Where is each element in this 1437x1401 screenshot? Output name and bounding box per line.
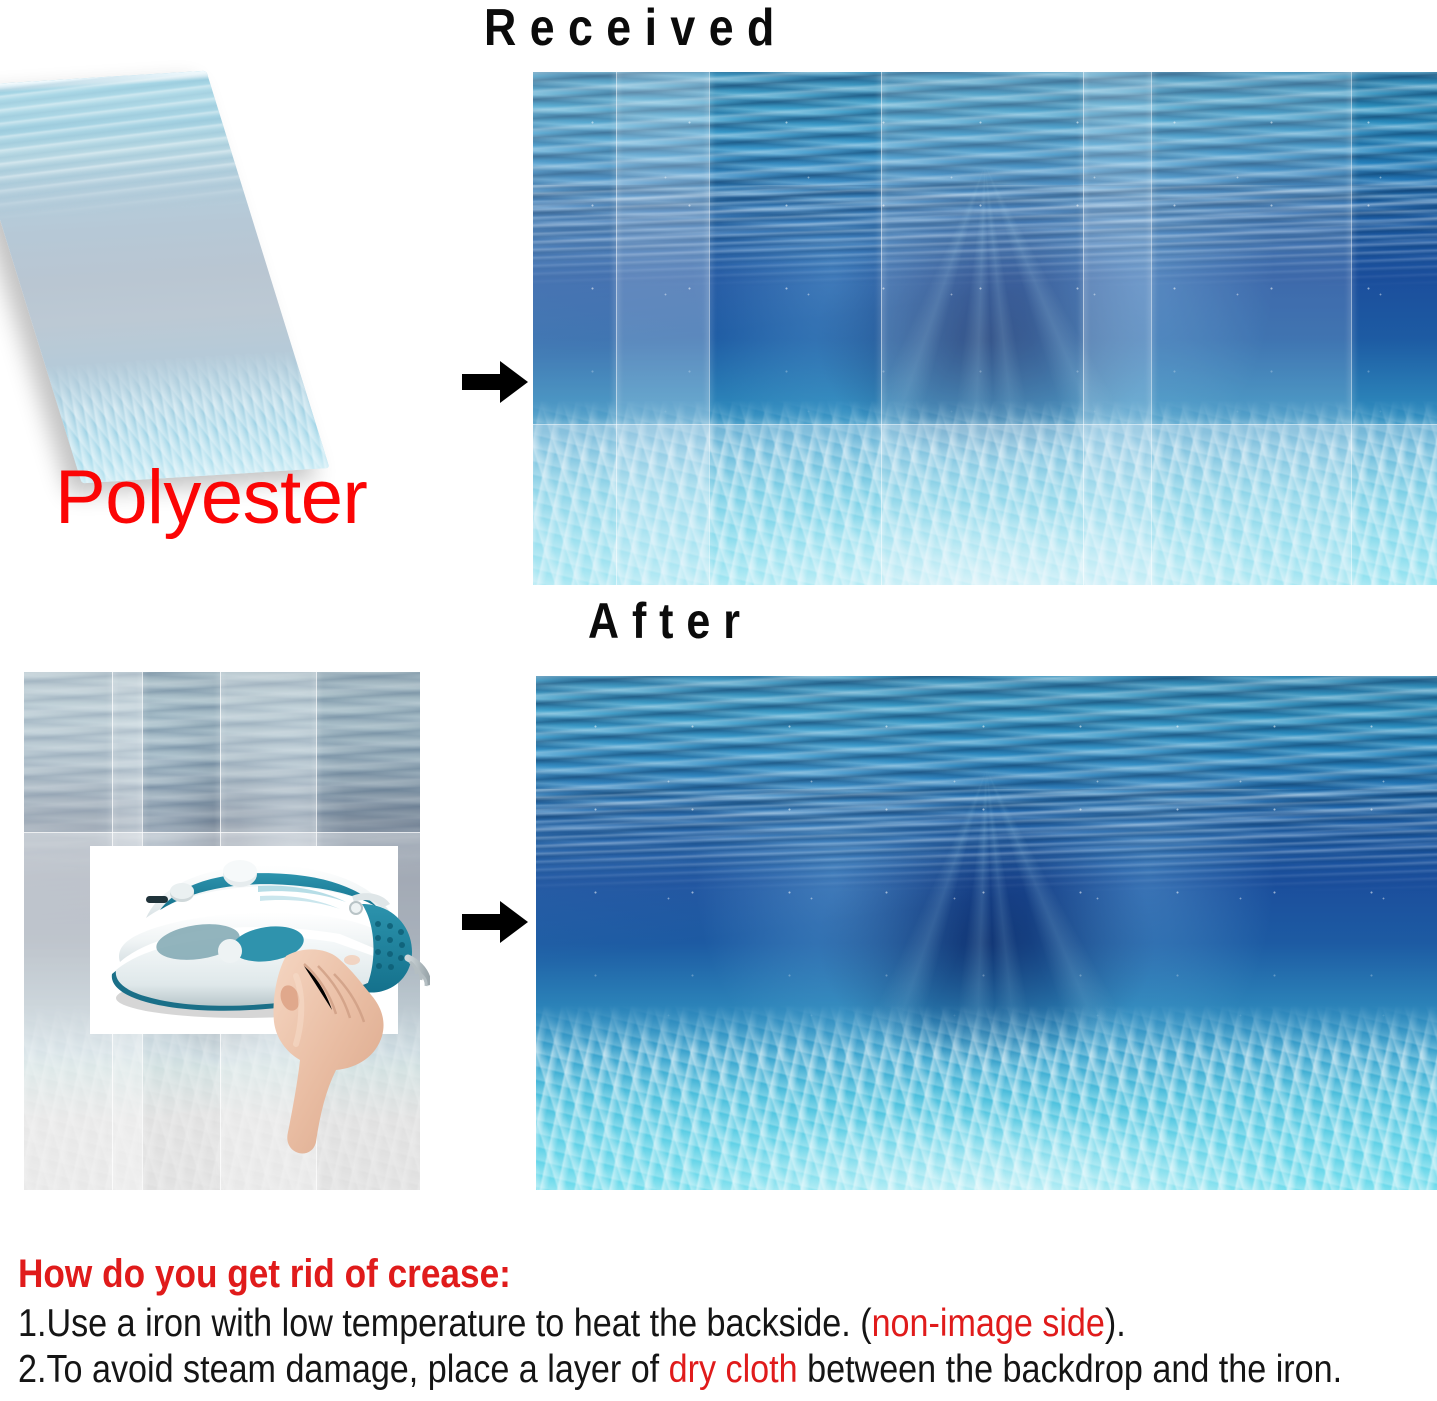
polyester-label: Polyester: [55, 460, 367, 536]
iron-with-hand-photo: [90, 846, 398, 1034]
instruction-line-1: 1.Use a iron with low temperature to hea…: [18, 1301, 1252, 1347]
sea-surface-ripples: [24, 672, 420, 869]
received-backdrop-photo: [533, 72, 1437, 585]
right-arrow-icon: [462, 898, 528, 946]
instruction-line-1-part1: 1.Use a iron with low temperature to hea…: [18, 1302, 872, 1345]
section-title-after: After: [588, 596, 753, 646]
instructions-block: How do you get rid of crease: 1.Use a ir…: [18, 1252, 1428, 1393]
sea-bubbles: [536, 676, 1437, 1190]
instructions-heading: How do you get rid of crease:: [18, 1252, 1259, 1297]
instruction-line-1-part2: ).: [1105, 1302, 1126, 1345]
instruction-line-1-highlight: non-image side: [872, 1302, 1105, 1345]
sea-bubbles: [533, 72, 1437, 585]
section-title-received: Received: [484, 2, 788, 54]
polyester-fabric-roll-image: [0, 71, 330, 484]
after-backdrop-photo: [536, 676, 1437, 1190]
right-arrow-icon: [462, 358, 528, 406]
instruction-line-2: 2.To avoid steam damage, place a layer o…: [18, 1347, 1252, 1393]
instruction-line-2-part1: 2.To avoid steam damage, place a layer o…: [18, 1348, 669, 1391]
instruction-line-2-part2: between the backdrop and the iron.: [798, 1348, 1342, 1391]
instruction-line-2-highlight: dry cloth: [669, 1348, 798, 1391]
